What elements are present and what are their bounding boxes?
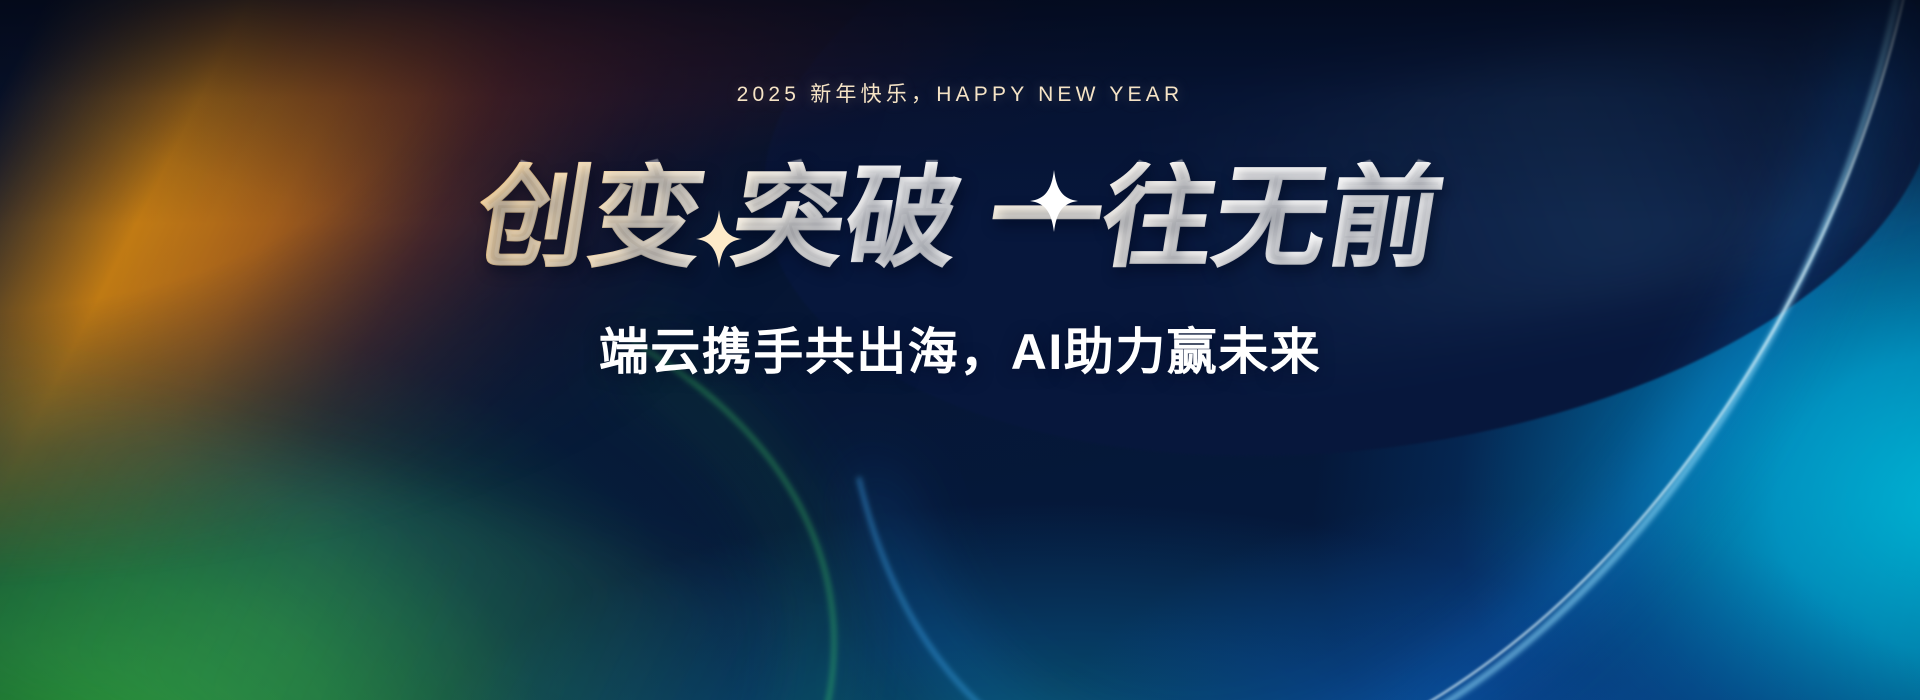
- headline-segment-gold: 创变: [469, 162, 713, 274]
- page-title: 创变 突破 一往无前: [478, 162, 1442, 274]
- headline-segment-white-2: 一往无前: [981, 162, 1451, 274]
- new-year-hero-banner: 2025 新年快乐，HAPPY NEW YEAR 创变 突破 一往无前 端云携手…: [0, 0, 1920, 700]
- subtitle-text: 端云携手共出海，AI助力赢未来: [599, 312, 1322, 384]
- headline-segment-white-1: 突破: [725, 162, 969, 274]
- eyebrow-text: 2025 新年快乐，HAPPY NEW YEAR: [737, 78, 1184, 108]
- banner-content: 2025 新年快乐，HAPPY NEW YEAR 创变 突破 一往无前 端云携手…: [0, 0, 1920, 700]
